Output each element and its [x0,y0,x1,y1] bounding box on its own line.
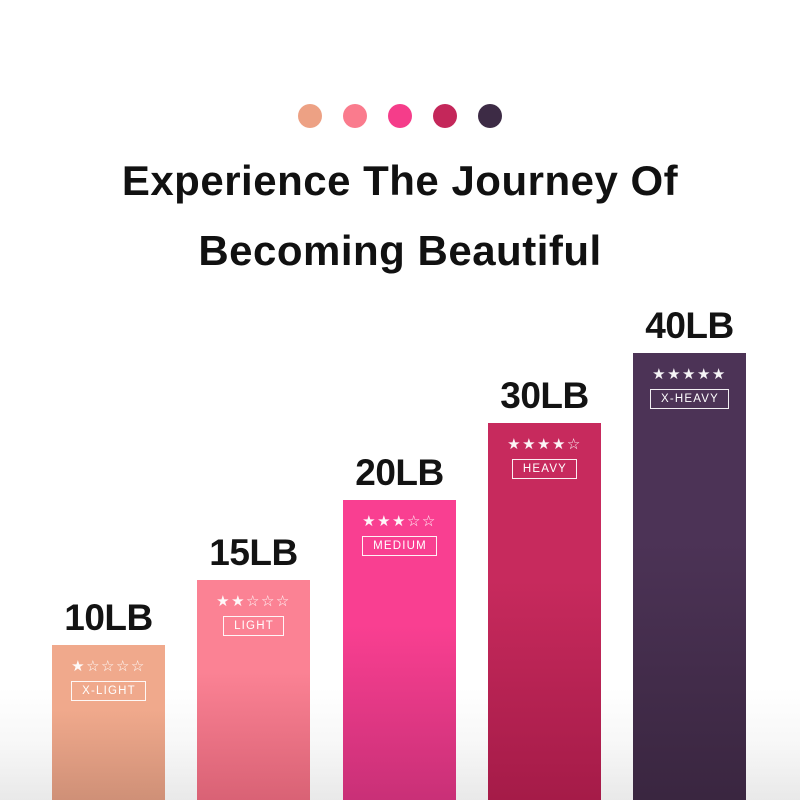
bar-badge: ★★☆☆☆LIGHT [197,594,310,636]
bar-group-15lb: 15LB★★☆☆☆LIGHT [197,532,310,800]
bar-10lb: ★☆☆☆☆X-LIGHT [52,645,165,800]
bar-badge: ★★★★☆HEAVY [488,437,601,479]
bar-group-20lb: 20LB★★★☆☆MEDIUM [343,452,456,800]
poster-canvas: Experience The Journey Of Becoming Beaut… [0,0,800,800]
bar-badge: ★☆☆☆☆X-LIGHT [52,659,165,701]
resistance-level-badge: MEDIUM [362,536,437,556]
bar-weight-label: 40LB [645,307,733,344]
bar-20lb: ★★★☆☆MEDIUM [343,500,456,800]
star-rating-icon: ★☆☆☆☆ [71,659,146,674]
bar-weight-label: 30LB [500,377,588,414]
resistance-level-badge: LIGHT [223,616,284,636]
star-rating-icon: ★★☆☆☆ [216,594,291,609]
bar-weight-label: 20LB [355,454,443,491]
star-rating-icon: ★★★★★ [652,367,727,382]
resistance-bar-chart: 10LB★☆☆☆☆X-LIGHT15LB★★☆☆☆LIGHT20LB★★★☆☆M… [0,0,800,800]
bar-badge: ★★★☆☆MEDIUM [343,514,456,556]
bar-group-10lb: 10LB★☆☆☆☆X-LIGHT [52,597,165,800]
bar-badge: ★★★★★X-HEAVY [633,367,746,409]
star-rating-icon: ★★★★☆ [507,437,582,452]
resistance-level-badge: HEAVY [512,459,577,479]
bar-weight-label: 15LB [209,534,297,571]
bar-weight-label: 10LB [64,599,152,636]
resistance-level-badge: X-HEAVY [650,389,729,409]
bar-40lb: ★★★★★X-HEAVY [633,353,746,800]
bar-15lb: ★★☆☆☆LIGHT [197,580,310,800]
bar-group-40lb: 40LB★★★★★X-HEAVY [633,305,746,800]
resistance-level-badge: X-LIGHT [71,681,146,701]
bar-group-30lb: 30LB★★★★☆HEAVY [488,375,601,800]
bar-30lb: ★★★★☆HEAVY [488,423,601,800]
star-rating-icon: ★★★☆☆ [362,514,437,529]
